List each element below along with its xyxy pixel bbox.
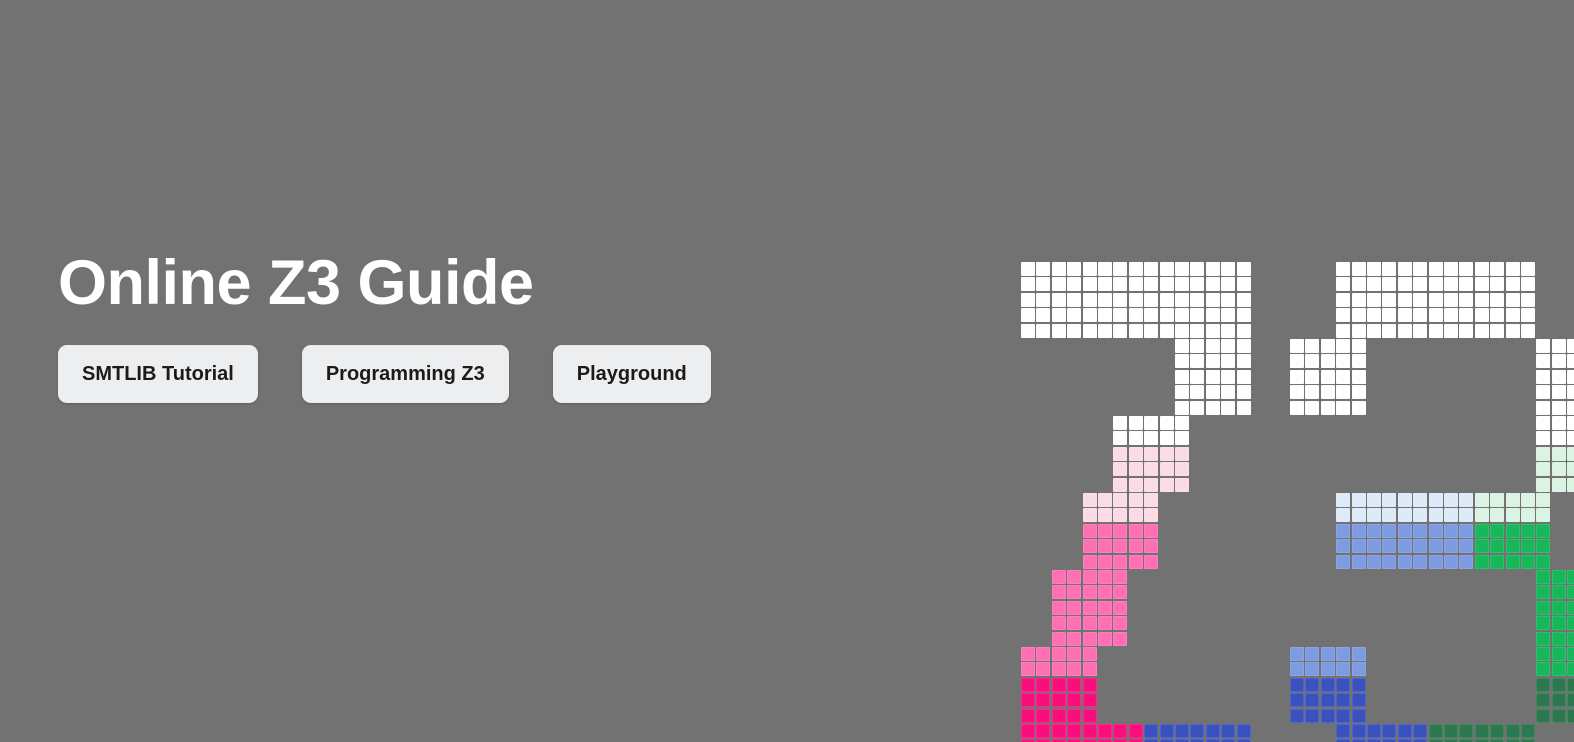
logo-cell <box>1067 308 1081 322</box>
logo-cell <box>1206 262 1220 276</box>
logo-cell <box>1113 632 1127 646</box>
logo-cell <box>1336 370 1350 384</box>
logo-cell <box>1382 524 1396 538</box>
logo-cell <box>1305 354 1319 368</box>
logo-cell <box>1206 277 1220 291</box>
logo-cell <box>1475 262 1489 276</box>
logo-cell <box>1552 385 1566 399</box>
logo-cell <box>1160 478 1174 492</box>
logo-cell <box>1413 555 1427 569</box>
logo-cell <box>1113 293 1127 307</box>
logo-cell <box>1459 524 1473 538</box>
logo-cell <box>1459 493 1473 507</box>
logo-cell <box>1237 277 1251 291</box>
logo-cell <box>1567 478 1574 492</box>
logo-cell <box>1129 416 1143 430</box>
logo-cell <box>1398 308 1412 322</box>
logo-cell <box>1206 385 1220 399</box>
logo-cell <box>1536 385 1550 399</box>
logo-cell <box>1475 724 1489 738</box>
logo-cell <box>1536 555 1550 569</box>
logo-cell <box>1506 539 1520 553</box>
logo-cell <box>1052 277 1066 291</box>
logo-cell <box>1506 324 1520 338</box>
logo-cell <box>1536 493 1550 507</box>
logo-cell <box>1429 539 1443 553</box>
logo-cell <box>1175 324 1189 338</box>
logo-cell <box>1552 570 1566 584</box>
logo-cell <box>1190 339 1204 353</box>
logo-cell <box>1567 416 1574 430</box>
logo-cell <box>1129 724 1143 738</box>
logo-cell <box>1567 339 1574 353</box>
logo-cell <box>1067 293 1081 307</box>
logo-cell <box>1567 662 1574 676</box>
logo-cell <box>1429 277 1443 291</box>
logo-cell <box>1305 385 1319 399</box>
logo-cell <box>1567 385 1574 399</box>
logo-cell <box>1444 555 1458 569</box>
logo-cell <box>1521 308 1535 322</box>
logo-cell <box>1221 339 1235 353</box>
logo-cell <box>1336 678 1350 692</box>
logo-cell <box>1160 447 1174 461</box>
logo-cell <box>1429 262 1443 276</box>
logo-cell <box>1098 493 1112 507</box>
logo-cell <box>1052 662 1066 676</box>
logo-cell <box>1144 277 1158 291</box>
logo-cell <box>1490 724 1504 738</box>
logo-cell <box>1475 277 1489 291</box>
logo-cell <box>1067 647 1081 661</box>
logo-cell <box>1490 293 1504 307</box>
page-root: Online Z3 Guide SMTLIB TutorialProgrammi… <box>0 0 1574 742</box>
logo-cell <box>1413 724 1427 738</box>
logo-cell <box>1036 709 1050 723</box>
logo-cell <box>1052 601 1066 615</box>
logo-cell <box>1113 416 1127 430</box>
logo-cell <box>1052 693 1066 707</box>
logo-cell <box>1129 462 1143 476</box>
logo-cell <box>1221 401 1235 415</box>
logo-cell <box>1113 447 1127 461</box>
logo-cell <box>1536 478 1550 492</box>
logo-cell <box>1536 416 1550 430</box>
logo-cell <box>1367 724 1381 738</box>
logo-cell <box>1067 678 1081 692</box>
logo-cell <box>1336 724 1350 738</box>
logo-cell <box>1175 293 1189 307</box>
logo-cell <box>1536 616 1550 630</box>
logo-cell <box>1237 339 1251 353</box>
logo-cell <box>1113 277 1127 291</box>
logo-cell <box>1175 370 1189 384</box>
logo-cell <box>1321 709 1335 723</box>
logo-cell <box>1413 293 1427 307</box>
logo-cell <box>1221 324 1235 338</box>
logo-cell <box>1506 493 1520 507</box>
logo-cell <box>1113 262 1127 276</box>
logo-cell <box>1160 293 1174 307</box>
logo-cell <box>1413 308 1427 322</box>
logo-cell <box>1067 693 1081 707</box>
logo-cell <box>1536 339 1550 353</box>
logo-cell <box>1475 508 1489 522</box>
logo-cell <box>1398 724 1412 738</box>
logo-cell <box>1536 678 1550 692</box>
logo-cell <box>1459 324 1473 338</box>
logo-cell <box>1429 555 1443 569</box>
logo-cell <box>1398 508 1412 522</box>
logo-cell <box>1506 277 1520 291</box>
logo-cell <box>1083 277 1097 291</box>
logo-cell <box>1098 632 1112 646</box>
logo-cell <box>1190 277 1204 291</box>
logo-cell <box>1036 678 1050 692</box>
logo-cell <box>1083 293 1097 307</box>
logo-cell <box>1098 277 1112 291</box>
logo-cell <box>1290 709 1304 723</box>
logo-cell <box>1429 724 1443 738</box>
logo-cell <box>1552 632 1566 646</box>
logo-cell <box>1098 601 1112 615</box>
logo-cell <box>1536 647 1550 661</box>
logo-cell <box>1098 724 1112 738</box>
logo-cell <box>1175 339 1189 353</box>
smtlib-tutorial-button[interactable]: SMTLIB Tutorial <box>58 345 258 403</box>
logo-cell <box>1490 277 1504 291</box>
logo-cell <box>1036 262 1050 276</box>
logo-cell <box>1083 262 1097 276</box>
logo-cell <box>1398 524 1412 538</box>
logo-cell <box>1083 693 1097 707</box>
logo-cell <box>1352 493 1366 507</box>
logo-cell <box>1490 308 1504 322</box>
logo-cell <box>1052 724 1066 738</box>
logo-cell <box>1413 539 1427 553</box>
logo-cell <box>1398 277 1412 291</box>
logo-cell <box>1036 324 1050 338</box>
logo-cell <box>1237 293 1251 307</box>
logo-cell <box>1536 570 1550 584</box>
logo-cell <box>1429 524 1443 538</box>
logo-cell <box>1521 277 1535 291</box>
logo-cell <box>1144 416 1158 430</box>
logo-cell <box>1352 277 1366 291</box>
cta-button-label: Playground <box>577 363 687 386</box>
logo-cell <box>1382 262 1396 276</box>
logo-cell <box>1144 524 1158 538</box>
logo-cell <box>1567 431 1574 445</box>
logo-cell <box>1321 678 1335 692</box>
logo-cell <box>1144 539 1158 553</box>
logo-cell <box>1429 493 1443 507</box>
logo-cell <box>1552 616 1566 630</box>
logo-cell <box>1021 662 1035 676</box>
logo-cell <box>1536 524 1550 538</box>
logo-cell <box>1382 555 1396 569</box>
logo-cell <box>1413 324 1427 338</box>
logo-cell <box>1175 385 1189 399</box>
logo-cell <box>1367 262 1381 276</box>
logo-cell <box>1237 385 1251 399</box>
logo-cell <box>1206 308 1220 322</box>
logo-cell <box>1536 693 1550 707</box>
logo-cell <box>1067 709 1081 723</box>
logo-cell <box>1536 662 1550 676</box>
logo-cell <box>1144 555 1158 569</box>
logo-cell <box>1506 262 1520 276</box>
logo-cell <box>1567 647 1574 661</box>
logo-cell <box>1036 662 1050 676</box>
logo-cell <box>1113 462 1127 476</box>
logo-cell <box>1036 277 1050 291</box>
programming-z3-button[interactable]: Programming Z3 <box>302 345 509 403</box>
logo-cell <box>1083 616 1097 630</box>
hero-section: Online Z3 Guide SMTLIB TutorialProgrammi… <box>58 252 978 403</box>
logo-cell <box>1160 724 1174 738</box>
logo-cell <box>1052 647 1066 661</box>
logo-cell <box>1190 370 1204 384</box>
logo-cell <box>1113 585 1127 599</box>
logo-cell <box>1083 493 1097 507</box>
logo-cell <box>1175 724 1189 738</box>
logo-cell <box>1160 462 1174 476</box>
logo-cell <box>1144 431 1158 445</box>
logo-cell <box>1444 324 1458 338</box>
logo-cell <box>1490 262 1504 276</box>
logo-cell <box>1290 662 1304 676</box>
logo-cell <box>1221 724 1235 738</box>
logo-cell <box>1113 308 1127 322</box>
logo-cell <box>1490 555 1504 569</box>
logo-cell <box>1490 508 1504 522</box>
logo-cell <box>1552 462 1566 476</box>
logo-cell <box>1552 478 1566 492</box>
playground-button[interactable]: Playground <box>553 345 711 403</box>
logo-cell <box>1083 647 1097 661</box>
logo-cell <box>1552 601 1566 615</box>
logo-cell <box>1113 324 1127 338</box>
logo-cell <box>1552 662 1566 676</box>
logo-cell <box>1129 508 1143 522</box>
logo-cell <box>1190 293 1204 307</box>
logo-cell <box>1352 401 1366 415</box>
logo-cell <box>1144 308 1158 322</box>
logo-cell <box>1144 324 1158 338</box>
logo-cell <box>1083 555 1097 569</box>
logo-cell <box>1352 539 1366 553</box>
logo-cell <box>1336 324 1350 338</box>
logo-cell <box>1113 616 1127 630</box>
logo-cell <box>1382 508 1396 522</box>
logo-cell <box>1175 447 1189 461</box>
logo-cell <box>1221 354 1235 368</box>
logo-cell <box>1098 524 1112 538</box>
logo-cell <box>1352 370 1366 384</box>
logo-cell <box>1459 277 1473 291</box>
page-title: Online Z3 Guide <box>58 252 978 315</box>
logo-cell <box>1352 524 1366 538</box>
logo-cell <box>1413 262 1427 276</box>
logo-cell <box>1175 416 1189 430</box>
logo-cell <box>1052 709 1066 723</box>
logo-cell <box>1536 431 1550 445</box>
logo-cell <box>1567 462 1574 476</box>
logo-cell <box>1083 662 1097 676</box>
logo-cell <box>1352 709 1366 723</box>
logo-cell <box>1305 662 1319 676</box>
logo-cell <box>1144 262 1158 276</box>
logo-cell <box>1367 555 1381 569</box>
logo-cell <box>1052 585 1066 599</box>
logo-cell <box>1536 539 1550 553</box>
logo-cell <box>1190 308 1204 322</box>
logo-cell <box>1444 308 1458 322</box>
logo-cell <box>1459 555 1473 569</box>
logo-cell <box>1129 478 1143 492</box>
logo-cell <box>1475 293 1489 307</box>
logo-cell <box>1067 570 1081 584</box>
logo-cell <box>1536 601 1550 615</box>
logo-cell <box>1552 447 1566 461</box>
logo-cell <box>1067 662 1081 676</box>
logo-cell <box>1175 262 1189 276</box>
logo-cell <box>1336 385 1350 399</box>
logo-cell <box>1536 585 1550 599</box>
logo-cell <box>1321 385 1335 399</box>
logo-cell <box>1352 555 1366 569</box>
logo-cell <box>1190 401 1204 415</box>
logo-cell <box>1129 262 1143 276</box>
logo-cell <box>1506 724 1520 738</box>
logo-cell <box>1429 508 1443 522</box>
logo-cell <box>1036 693 1050 707</box>
logo-cell <box>1305 339 1319 353</box>
logo-cell <box>1336 524 1350 538</box>
logo-cell <box>1475 324 1489 338</box>
logo-cell <box>1036 724 1050 738</box>
logo-cell <box>1221 262 1235 276</box>
logo-cell <box>1206 401 1220 415</box>
logo-cell <box>1305 401 1319 415</box>
logo-cell <box>1567 447 1574 461</box>
logo-cell <box>1490 524 1504 538</box>
logo-cell <box>1052 570 1066 584</box>
logo-cell <box>1190 724 1204 738</box>
logo-cell <box>1098 539 1112 553</box>
logo-cell <box>1567 601 1574 615</box>
logo-cell <box>1021 277 1035 291</box>
logo-cell <box>1567 570 1574 584</box>
logo-cell <box>1098 555 1112 569</box>
logo-cell <box>1398 493 1412 507</box>
logo-cell <box>1444 262 1458 276</box>
logo-cell <box>1237 262 1251 276</box>
logo-cell <box>1367 324 1381 338</box>
logo-cell <box>1098 293 1112 307</box>
logo-cell <box>1382 724 1396 738</box>
logo-cell <box>1113 539 1127 553</box>
logo-cell <box>1305 647 1319 661</box>
logo-cell <box>1367 293 1381 307</box>
logo-cell <box>1221 293 1235 307</box>
logo-cell <box>1336 662 1350 676</box>
logo-cell <box>1175 478 1189 492</box>
logo-cell <box>1567 585 1574 599</box>
logo-cell <box>1521 293 1535 307</box>
logo-cell <box>1083 308 1097 322</box>
logo-cell <box>1567 616 1574 630</box>
logo-cell <box>1321 354 1335 368</box>
logo-cell <box>1021 647 1035 661</box>
logo-cell <box>1098 308 1112 322</box>
logo-cell <box>1352 385 1366 399</box>
logo-cell <box>1352 324 1366 338</box>
logo-cell <box>1352 293 1366 307</box>
logo-cell <box>1190 354 1204 368</box>
logo-cell <box>1459 539 1473 553</box>
logo-cell <box>1536 370 1550 384</box>
logo-cell <box>1490 493 1504 507</box>
logo-cell <box>1237 370 1251 384</box>
logo-cell <box>1459 308 1473 322</box>
logo-cell <box>1206 724 1220 738</box>
logo-cell <box>1352 724 1366 738</box>
logo-cell <box>1321 370 1335 384</box>
logo-cell <box>1336 647 1350 661</box>
logo-cell <box>1067 324 1081 338</box>
cta-button-row: SMTLIB TutorialProgramming Z3Playground <box>58 345 978 403</box>
logo-cell <box>1113 524 1127 538</box>
logo-cell <box>1413 277 1427 291</box>
logo-cell <box>1352 662 1366 676</box>
logo-cell <box>1336 693 1350 707</box>
logo-cell <box>1305 709 1319 723</box>
logo-cell <box>1083 508 1097 522</box>
logo-cell <box>1552 354 1566 368</box>
logo-cell <box>1429 324 1443 338</box>
logo-cell <box>1237 401 1251 415</box>
logo-cell <box>1444 493 1458 507</box>
logo-cell <box>1398 539 1412 553</box>
logo-cell <box>1382 324 1396 338</box>
logo-cell <box>1398 293 1412 307</box>
logo-cell <box>1160 262 1174 276</box>
logo-cell <box>1021 293 1035 307</box>
logo-cell <box>1444 539 1458 553</box>
logo-cell <box>1321 401 1335 415</box>
logo-cell <box>1052 308 1066 322</box>
cta-button-label: SMTLIB Tutorial <box>82 363 234 386</box>
logo-cell <box>1536 354 1550 368</box>
logo-cell <box>1444 293 1458 307</box>
logo-cell <box>1567 709 1574 723</box>
logo-cell <box>1552 431 1566 445</box>
logo-cell <box>1160 308 1174 322</box>
logo-cell <box>1352 693 1366 707</box>
logo-cell <box>1144 462 1158 476</box>
logo-cell <box>1083 524 1097 538</box>
logo-cell <box>1367 539 1381 553</box>
logo-cell <box>1536 508 1550 522</box>
logo-cell <box>1021 709 1035 723</box>
logo-cell <box>1067 601 1081 615</box>
logo-cell <box>1567 693 1574 707</box>
logo-cell <box>1190 324 1204 338</box>
logo-cell <box>1552 401 1566 415</box>
logo-cell <box>1221 370 1235 384</box>
